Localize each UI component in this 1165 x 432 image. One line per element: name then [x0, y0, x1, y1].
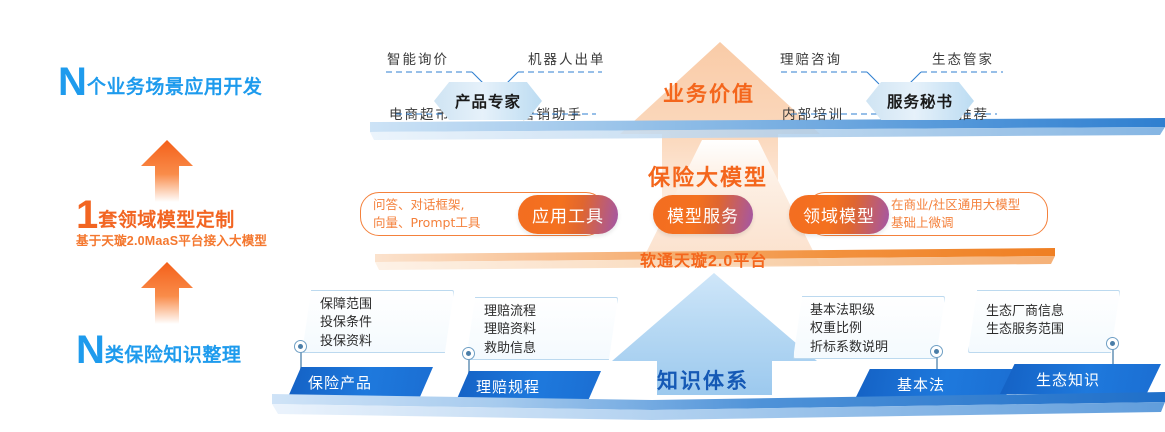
business-value-label: 业务价值 — [663, 78, 755, 108]
knowledge-tag-3-label: 生态知识 — [1036, 369, 1100, 390]
knowledge-card-2-knob[interactable] — [930, 345, 943, 358]
pill-model-service-label: 模型服务 — [667, 202, 739, 227]
application-tools-note-line1: 问答、对话框架, — [373, 196, 480, 214]
scenario-hex-0[interactable]: 产品专家 — [434, 82, 542, 120]
left-label-knowledge-prefix: N — [76, 328, 105, 372]
knowledge-card-1-line-1: 理赔资料 — [484, 321, 536, 339]
knowledge-card-0-knob[interactable] — [294, 340, 307, 353]
scenario-hex-0-label: 产品专家 — [455, 90, 521, 112]
left-label-knowledge-text: 类保险知识整理 — [105, 345, 242, 366]
knowledge-card-1-knob[interactable] — [462, 347, 475, 360]
scenario-hex-1[interactable]: 服务秘书 — [866, 82, 974, 120]
knowledge-system-label: 知识体系 — [657, 365, 749, 395]
knowledge-tag-3[interactable]: 生态知识 — [1000, 364, 1161, 394]
left-label-scenarios-prefix: N — [58, 60, 87, 104]
left-label-scenarios-text: 个业务场景应用开发 — [87, 77, 263, 98]
knowledge-card-3-line-1: 生态服务范围 — [986, 321, 1064, 339]
knowledge-card-2-line-1: 权重比例 — [810, 320, 888, 338]
pill-application-tools[interactable]: 应用工具 — [518, 195, 618, 234]
domain-model-note-line2: 基础上微调 — [891, 214, 1020, 232]
up-arrow-upper-icon — [141, 140, 193, 202]
scenario-hex-1-label: 服务秘书 — [887, 90, 953, 112]
knowledge-card-1-line-2: 救助信息 — [484, 340, 536, 358]
pill-domain-model-label: 领域模型 — [803, 202, 875, 227]
knowledge-card-3-line-0: 生态厂商信息 — [986, 303, 1064, 321]
knowledge-card-3-knob[interactable] — [1106, 337, 1119, 350]
application-tools-note-line2: 向量、Prompt工具 — [373, 214, 480, 232]
knowledge-card-0-lines: 保障范围 投保条件 投保资料 — [320, 296, 372, 351]
insurance-model-title: 保险大模型 — [648, 160, 768, 192]
domain-model-note-line1: 在商业/社区通用大模型 — [891, 196, 1020, 214]
left-label-knowledge: N类保险知识整理 — [76, 330, 241, 370]
pill-application-tools-label: 应用工具 — [532, 202, 604, 227]
knowledge-card-1-lines: 理赔流程 理赔资料 救助信息 — [484, 303, 536, 358]
pill-model-service[interactable]: 模型服务 — [653, 195, 753, 234]
knowledge-card-0-line-0: 保障范围 — [320, 296, 372, 314]
platform-label: 软通天璇2.0平台 — [640, 247, 767, 271]
knowledge-card-2-lines: 基本法职级 权重比例 折标系数说明 — [810, 302, 888, 357]
diagram-canvas: N个业务场景应用开发 1套领域模型定制 基于天璇2.0MaaS平台接入大模型 N… — [0, 0, 1165, 432]
knowledge-card-3-lines: 生态厂商信息 生态服务范围 — [986, 303, 1064, 340]
knowledge-card-2-line-0: 基本法职级 — [810, 302, 888, 320]
left-label-model-sub: 基于天璇2.0MaaS平台接入大模型 — [76, 230, 267, 249]
knowledge-card-0-line-1: 投保条件 — [320, 314, 372, 332]
knowledge-tag-0-label: 保险产品 — [308, 372, 372, 393]
pill-domain-model[interactable]: 领域模型 — [789, 195, 889, 234]
left-label-model-text: 套领域模型定制 — [98, 210, 235, 231]
bottom-blue-base-bar — [272, 392, 1165, 432]
left-label-scenarios: N个业务场景应用开发 — [58, 62, 262, 102]
up-arrow-lower-icon — [141, 262, 193, 324]
knowledge-card-2-line-2: 折标系数说明 — [810, 339, 888, 357]
knowledge-card-0-line-2: 投保资料 — [320, 333, 372, 351]
knowledge-card-1-line-0: 理赔流程 — [484, 303, 536, 321]
